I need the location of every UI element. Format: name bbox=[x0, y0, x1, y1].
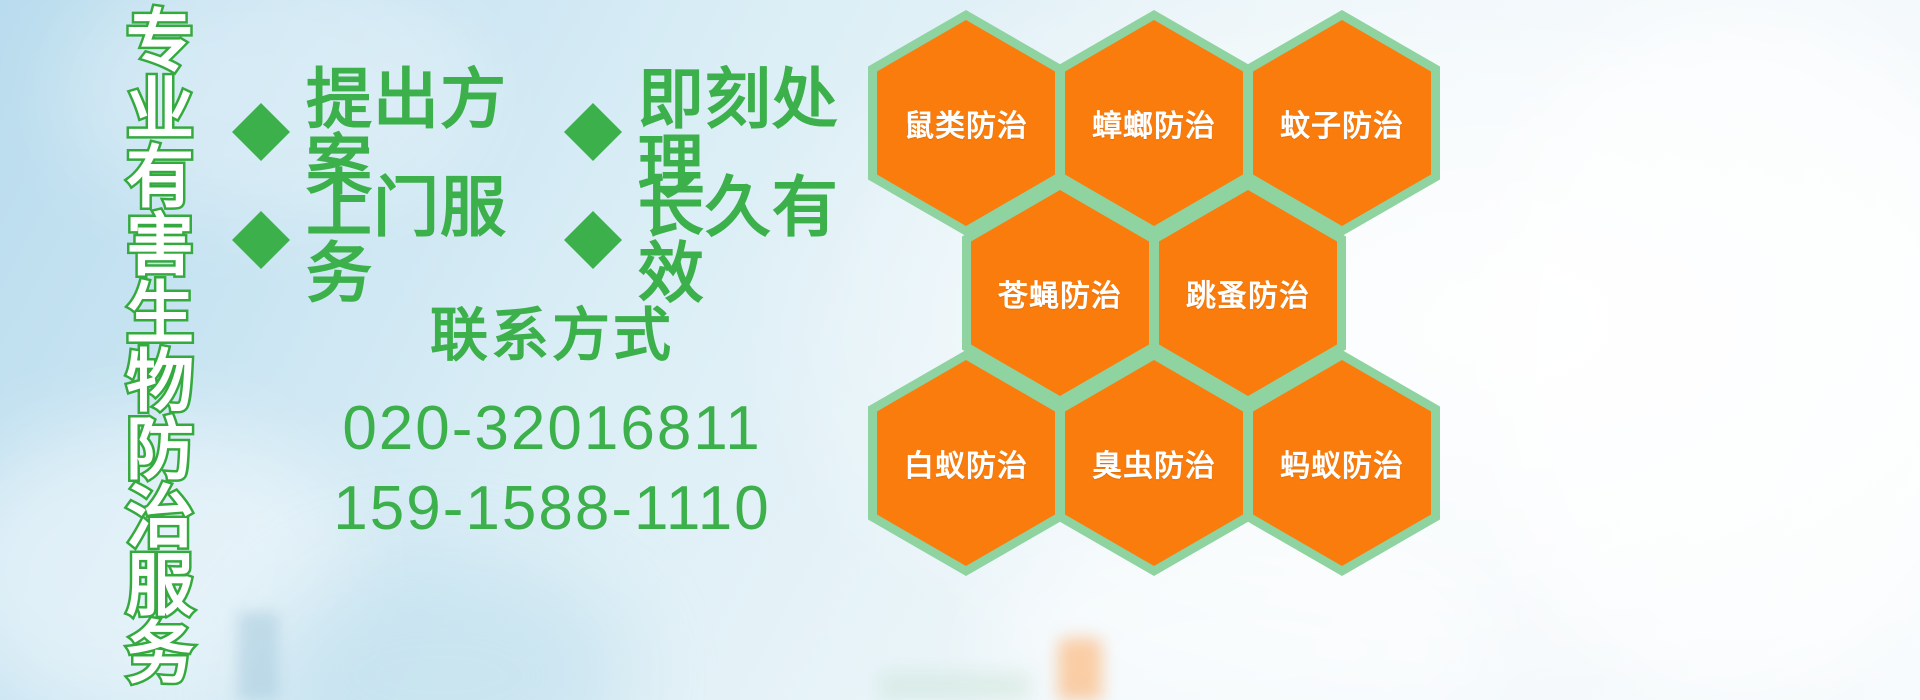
service-hexagon-label: 臭虫防治 bbox=[1092, 441, 1216, 485]
contact-phone-mobile[interactable]: 159-1588-1110 bbox=[232, 469, 872, 550]
diamond-bullet-icon bbox=[232, 182, 290, 240]
feature-item: 长久有效 bbox=[564, 174, 872, 306]
vertical-slogan-char: 治 bbox=[126, 484, 194, 552]
service-hexagon-label: 鼠类防治 bbox=[904, 101, 1028, 145]
vertical-slogan-char: 有 bbox=[126, 144, 194, 212]
vertical-slogan-char: 生 bbox=[126, 280, 194, 348]
diamond-bullet-icon bbox=[232, 74, 290, 132]
vertical-slogan-char: 业 bbox=[126, 76, 194, 144]
contact-heading: 联系方式 bbox=[232, 300, 872, 373]
vertical-slogan-char: 物 bbox=[126, 348, 194, 416]
service-hexagon-label: 跳蚤防治 bbox=[1186, 271, 1310, 315]
diamond-bullet-icon bbox=[564, 182, 622, 240]
service-hexagon-label: 白蚁防治 bbox=[904, 441, 1028, 485]
service-hexagon-grid: 鼠类防治 蟑螂防治 蚊子防治 苍蝇防治 跳蚤防治 白蚁防治 臭虫防治 蚂蚁 bbox=[860, 0, 1460, 560]
feature-item: 上门服务 bbox=[232, 174, 540, 306]
service-hexagon-label: 苍蝇防治 bbox=[998, 271, 1122, 315]
service-hexagon-label: 蟑螂防治 bbox=[1092, 101, 1216, 145]
feature-label: 上门服务 bbox=[306, 174, 540, 306]
vertical-slogan-char: 防 bbox=[126, 416, 194, 484]
promo-banner: 专 业 有 害 生 物 防 治 服 务 提出方案 即刻处理 上门服务 bbox=[0, 0, 1920, 700]
background-artifact-left bbox=[238, 612, 278, 700]
vertical-slogan-char: 害 bbox=[126, 212, 194, 280]
feature-row: 上门服务 长久有效 bbox=[232, 186, 872, 294]
background-artifact-center bbox=[880, 672, 1030, 700]
contact-block: 联系方式 020-32016811 159-1588-1110 bbox=[232, 300, 872, 550]
contact-phone-landline[interactable]: 020-32016811 bbox=[232, 389, 872, 470]
service-hexagon-label: 蚂蚁防治 bbox=[1280, 441, 1404, 485]
diamond-bullet-icon bbox=[564, 74, 622, 132]
vertical-slogan-char: 服 bbox=[126, 552, 194, 620]
background-artifact-orange bbox=[1058, 638, 1102, 700]
vertical-slogan: 专 业 有 害 生 物 防 治 服 务 bbox=[108, 8, 212, 668]
background-glow-bottom-left bbox=[250, 560, 630, 700]
vertical-slogan-char: 务 bbox=[126, 620, 194, 688]
background-glow-right bbox=[1480, 0, 1920, 700]
service-hexagon-label: 蚊子防治 bbox=[1280, 101, 1404, 145]
vertical-slogan-char: 专 bbox=[126, 8, 194, 76]
feature-label: 长久有效 bbox=[638, 174, 872, 306]
feature-list: 提出方案 即刻处理 上门服务 长久有效 bbox=[232, 78, 872, 294]
